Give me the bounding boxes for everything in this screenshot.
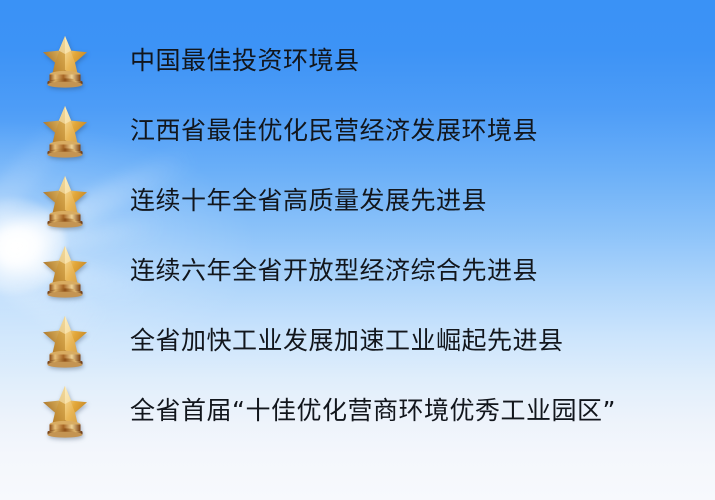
gold-star-trophy-icon <box>39 104 91 158</box>
award-slide: 中国最佳投资环境县 江西省最佳优化民营经济发展环境 <box>0 0 715 500</box>
award-list-item: 中国最佳投资环境县 <box>0 26 715 96</box>
trophy-cell <box>0 34 130 88</box>
gold-star-trophy-icon <box>39 314 91 368</box>
gold-star-trophy-icon <box>39 244 91 298</box>
award-label: 连续十年全省高质量发展先进县 <box>130 187 487 216</box>
gold-star-trophy-icon <box>39 384 91 438</box>
award-list-item: 连续十年全省高质量发展先进县 <box>0 166 715 236</box>
award-label: 全省加快工业发展加速工业崛起先进县 <box>130 327 564 356</box>
gold-star-trophy-icon <box>39 174 91 228</box>
award-list-item: 连续六年全省开放型经济综合先进县 <box>0 236 715 306</box>
trophy-cell <box>0 384 130 438</box>
award-label: 全省首届“十佳优化营商环境优秀工业园区” <box>130 397 616 426</box>
award-label: 江西省最佳优化民营经济发展环境县 <box>130 117 538 146</box>
gold-star-trophy-icon <box>39 34 91 88</box>
award-list-item: 江西省最佳优化民营经济发展环境县 <box>0 96 715 166</box>
award-label: 中国最佳投资环境县 <box>130 47 360 76</box>
award-list: 中国最佳投资环境县 江西省最佳优化民营经济发展环境 <box>0 0 715 500</box>
trophy-cell <box>0 244 130 298</box>
trophy-cell <box>0 104 130 158</box>
award-list-item: 全省加快工业发展加速工业崛起先进县 <box>0 306 715 376</box>
trophy-cell <box>0 174 130 228</box>
trophy-cell <box>0 314 130 368</box>
award-list-item: 全省首届“十佳优化营商环境优秀工业园区” <box>0 376 715 446</box>
award-label: 连续六年全省开放型经济综合先进县 <box>130 257 538 286</box>
